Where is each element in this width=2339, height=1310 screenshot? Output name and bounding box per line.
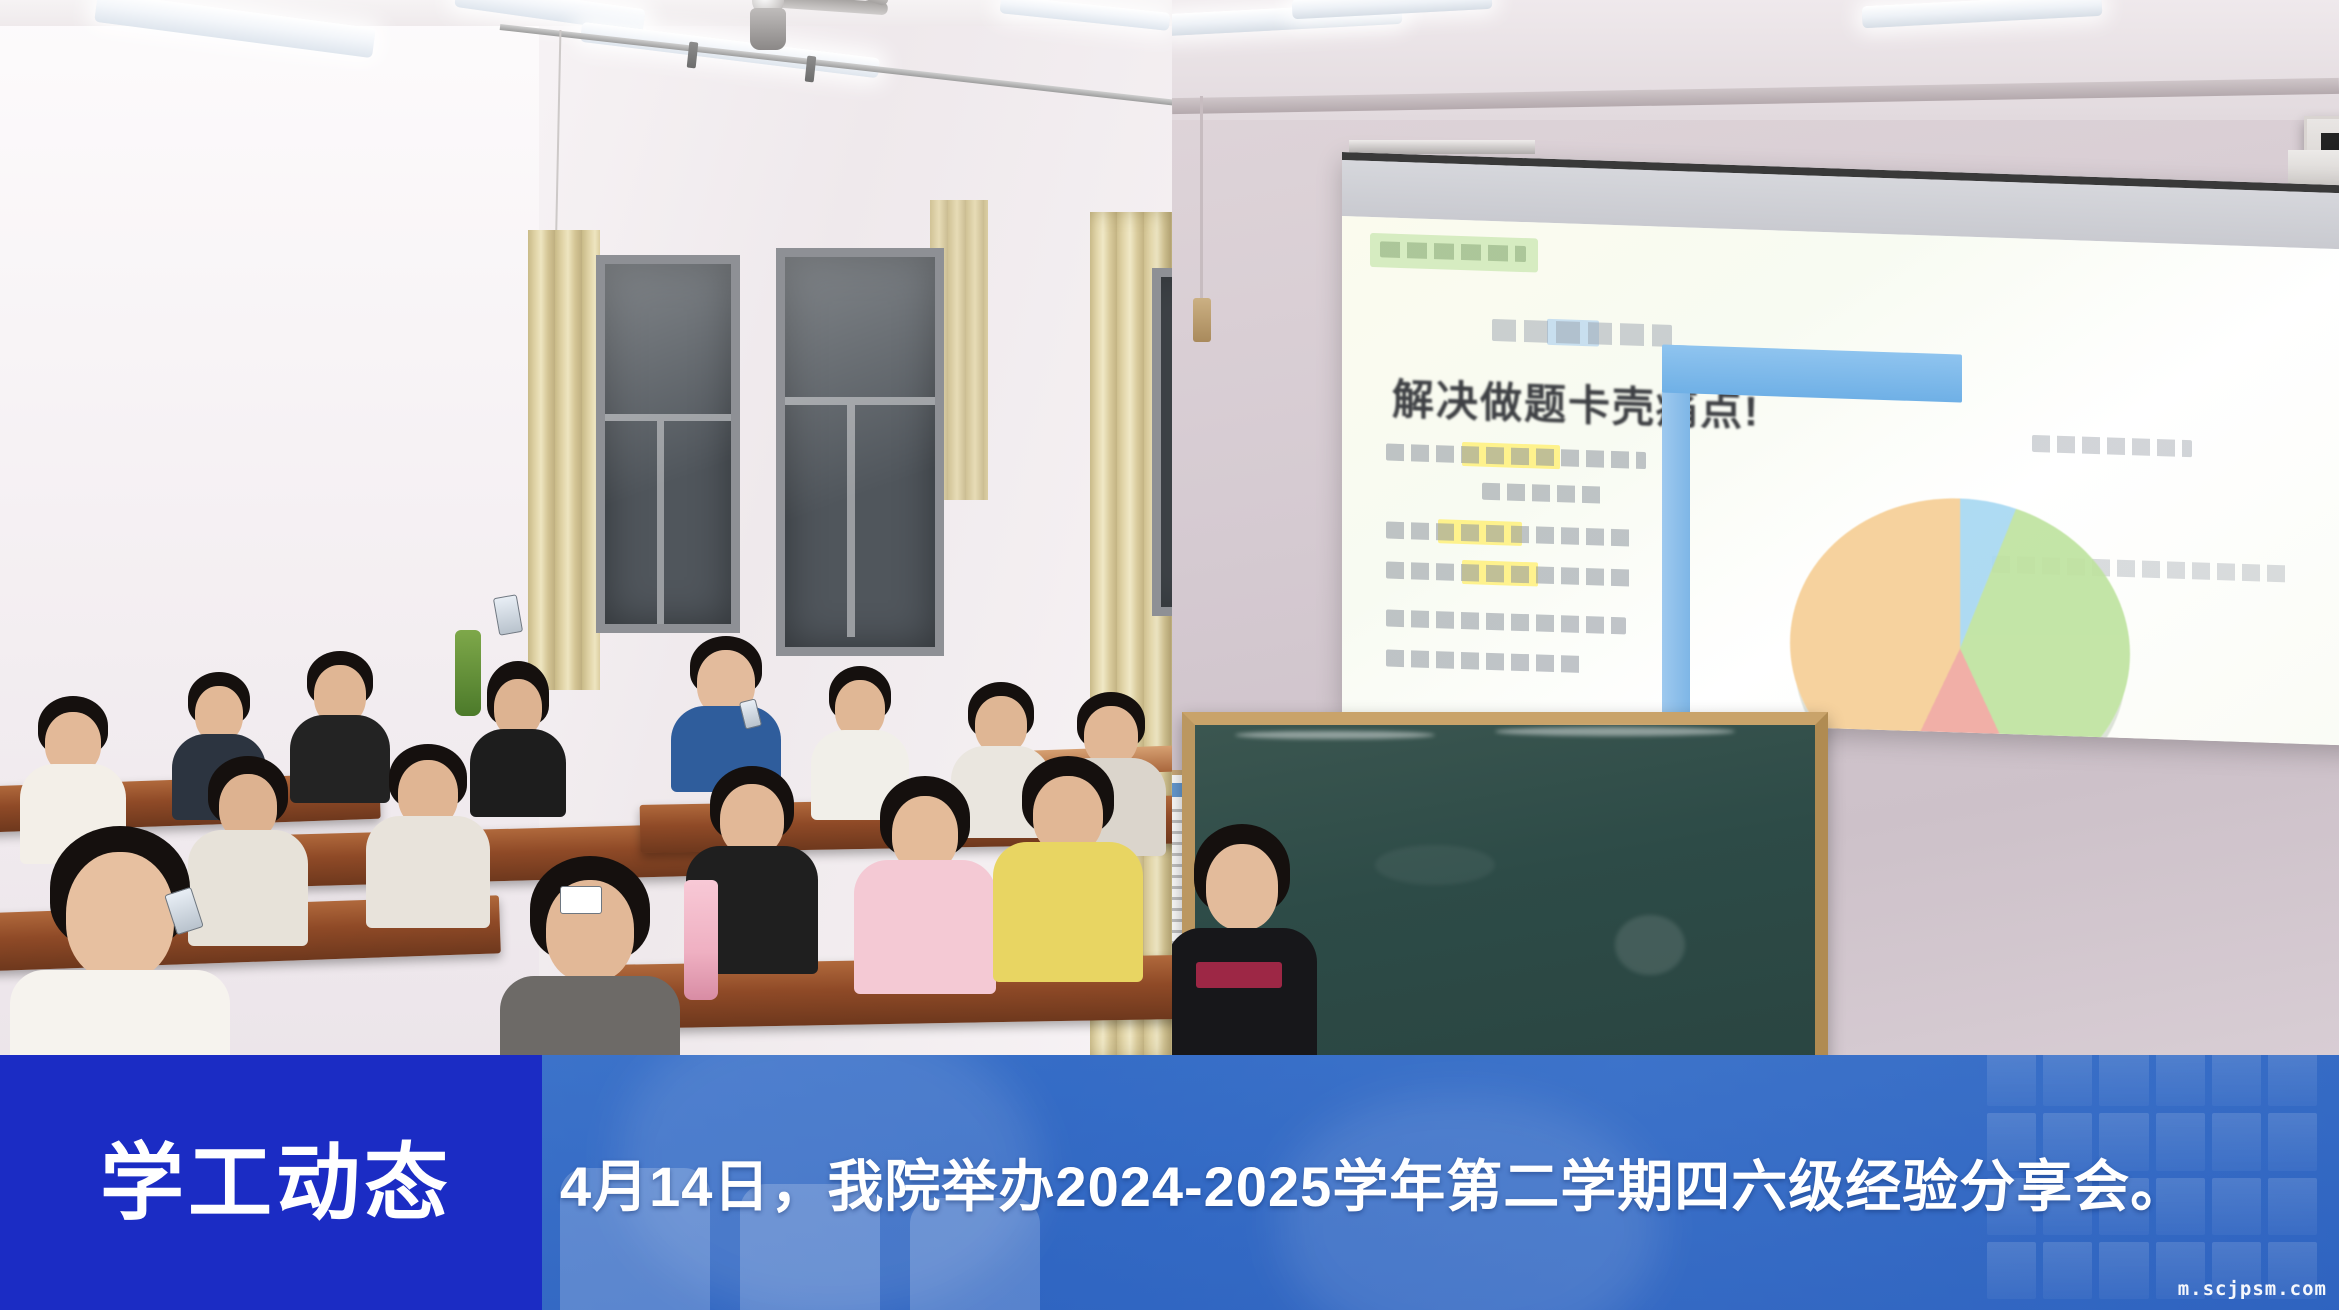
banner-caption-label: 4月14日，我院举办2024-2025学年第二学期四六级经验分享会。 — [560, 1142, 2187, 1223]
banner-category-label: 学工动态 — [100, 1141, 452, 1225]
slide-blue-frame-horizontal — [1662, 345, 1962, 403]
banner-category-tag: 学工动态 — [0, 1055, 542, 1310]
slide: 解决做题卡壳痛点! — [1342, 216, 2339, 751]
curtain — [528, 230, 600, 690]
chalk-smudge — [1615, 915, 1685, 975]
person — [870, 780, 980, 970]
person — [1010, 760, 1126, 960]
fan-motor — [750, 8, 786, 50]
image-canvas: 解决做题卡壳痛点! — [0, 0, 2339, 1310]
window-glare — [785, 257, 935, 647]
slide-note-line — [2032, 435, 2192, 457]
cord-weight — [1193, 298, 1211, 342]
slide-bullet-line — [1386, 649, 1586, 673]
hanging-cord — [1200, 96, 1203, 306]
window-glare — [605, 264, 731, 624]
bottom-banner: 学工动态 4月14日，我院举办2024-2025学年第二学期四六级经验分享会。 … — [0, 1055, 2339, 1310]
person — [200, 760, 296, 920]
screen-top-bar — [1349, 140, 1535, 154]
person-foreground — [40, 830, 200, 1057]
person — [380, 748, 476, 908]
chalk-smudge — [1495, 727, 1735, 736]
photo-strip: 解决做题卡壳痛点! — [0, 0, 2339, 1057]
person — [300, 655, 380, 785]
projection-screen: 解决做题卡壳痛点! — [1342, 152, 2339, 751]
slide-subtitle — [1492, 319, 1672, 347]
water-bottle — [684, 880, 718, 1000]
slide-bullet-line — [1482, 483, 1602, 504]
photo-left-classroom-audience — [0, 0, 1172, 1057]
window — [776, 248, 944, 656]
person — [478, 665, 558, 795]
paper-sheet — [560, 886, 602, 914]
window — [596, 255, 740, 633]
photo-right-projector-screen: 解决做题卡壳痛点! — [1172, 0, 2339, 1057]
slide-bullet-line — [1386, 609, 1626, 634]
banner-caption-area: 4月14日，我院举办2024-2025学年第二学期四六级经验分享会。 — [560, 1055, 2339, 1310]
person-standing — [1182, 828, 1302, 1057]
window — [1152, 268, 1172, 616]
slide-blue-frame-vertical — [1662, 345, 1690, 751]
chalk-smudge — [1375, 845, 1495, 885]
water-bottle — [455, 630, 481, 716]
chalk-smudge — [1235, 731, 1435, 739]
slide-pie-chart — [1790, 493, 2130, 751]
shirt-logo — [1196, 962, 1282, 988]
person — [30, 700, 116, 840]
ceiling-fan-icon — [648, 0, 858, 42]
watermark-label: m.scjpsm.com — [2178, 1278, 2327, 1300]
